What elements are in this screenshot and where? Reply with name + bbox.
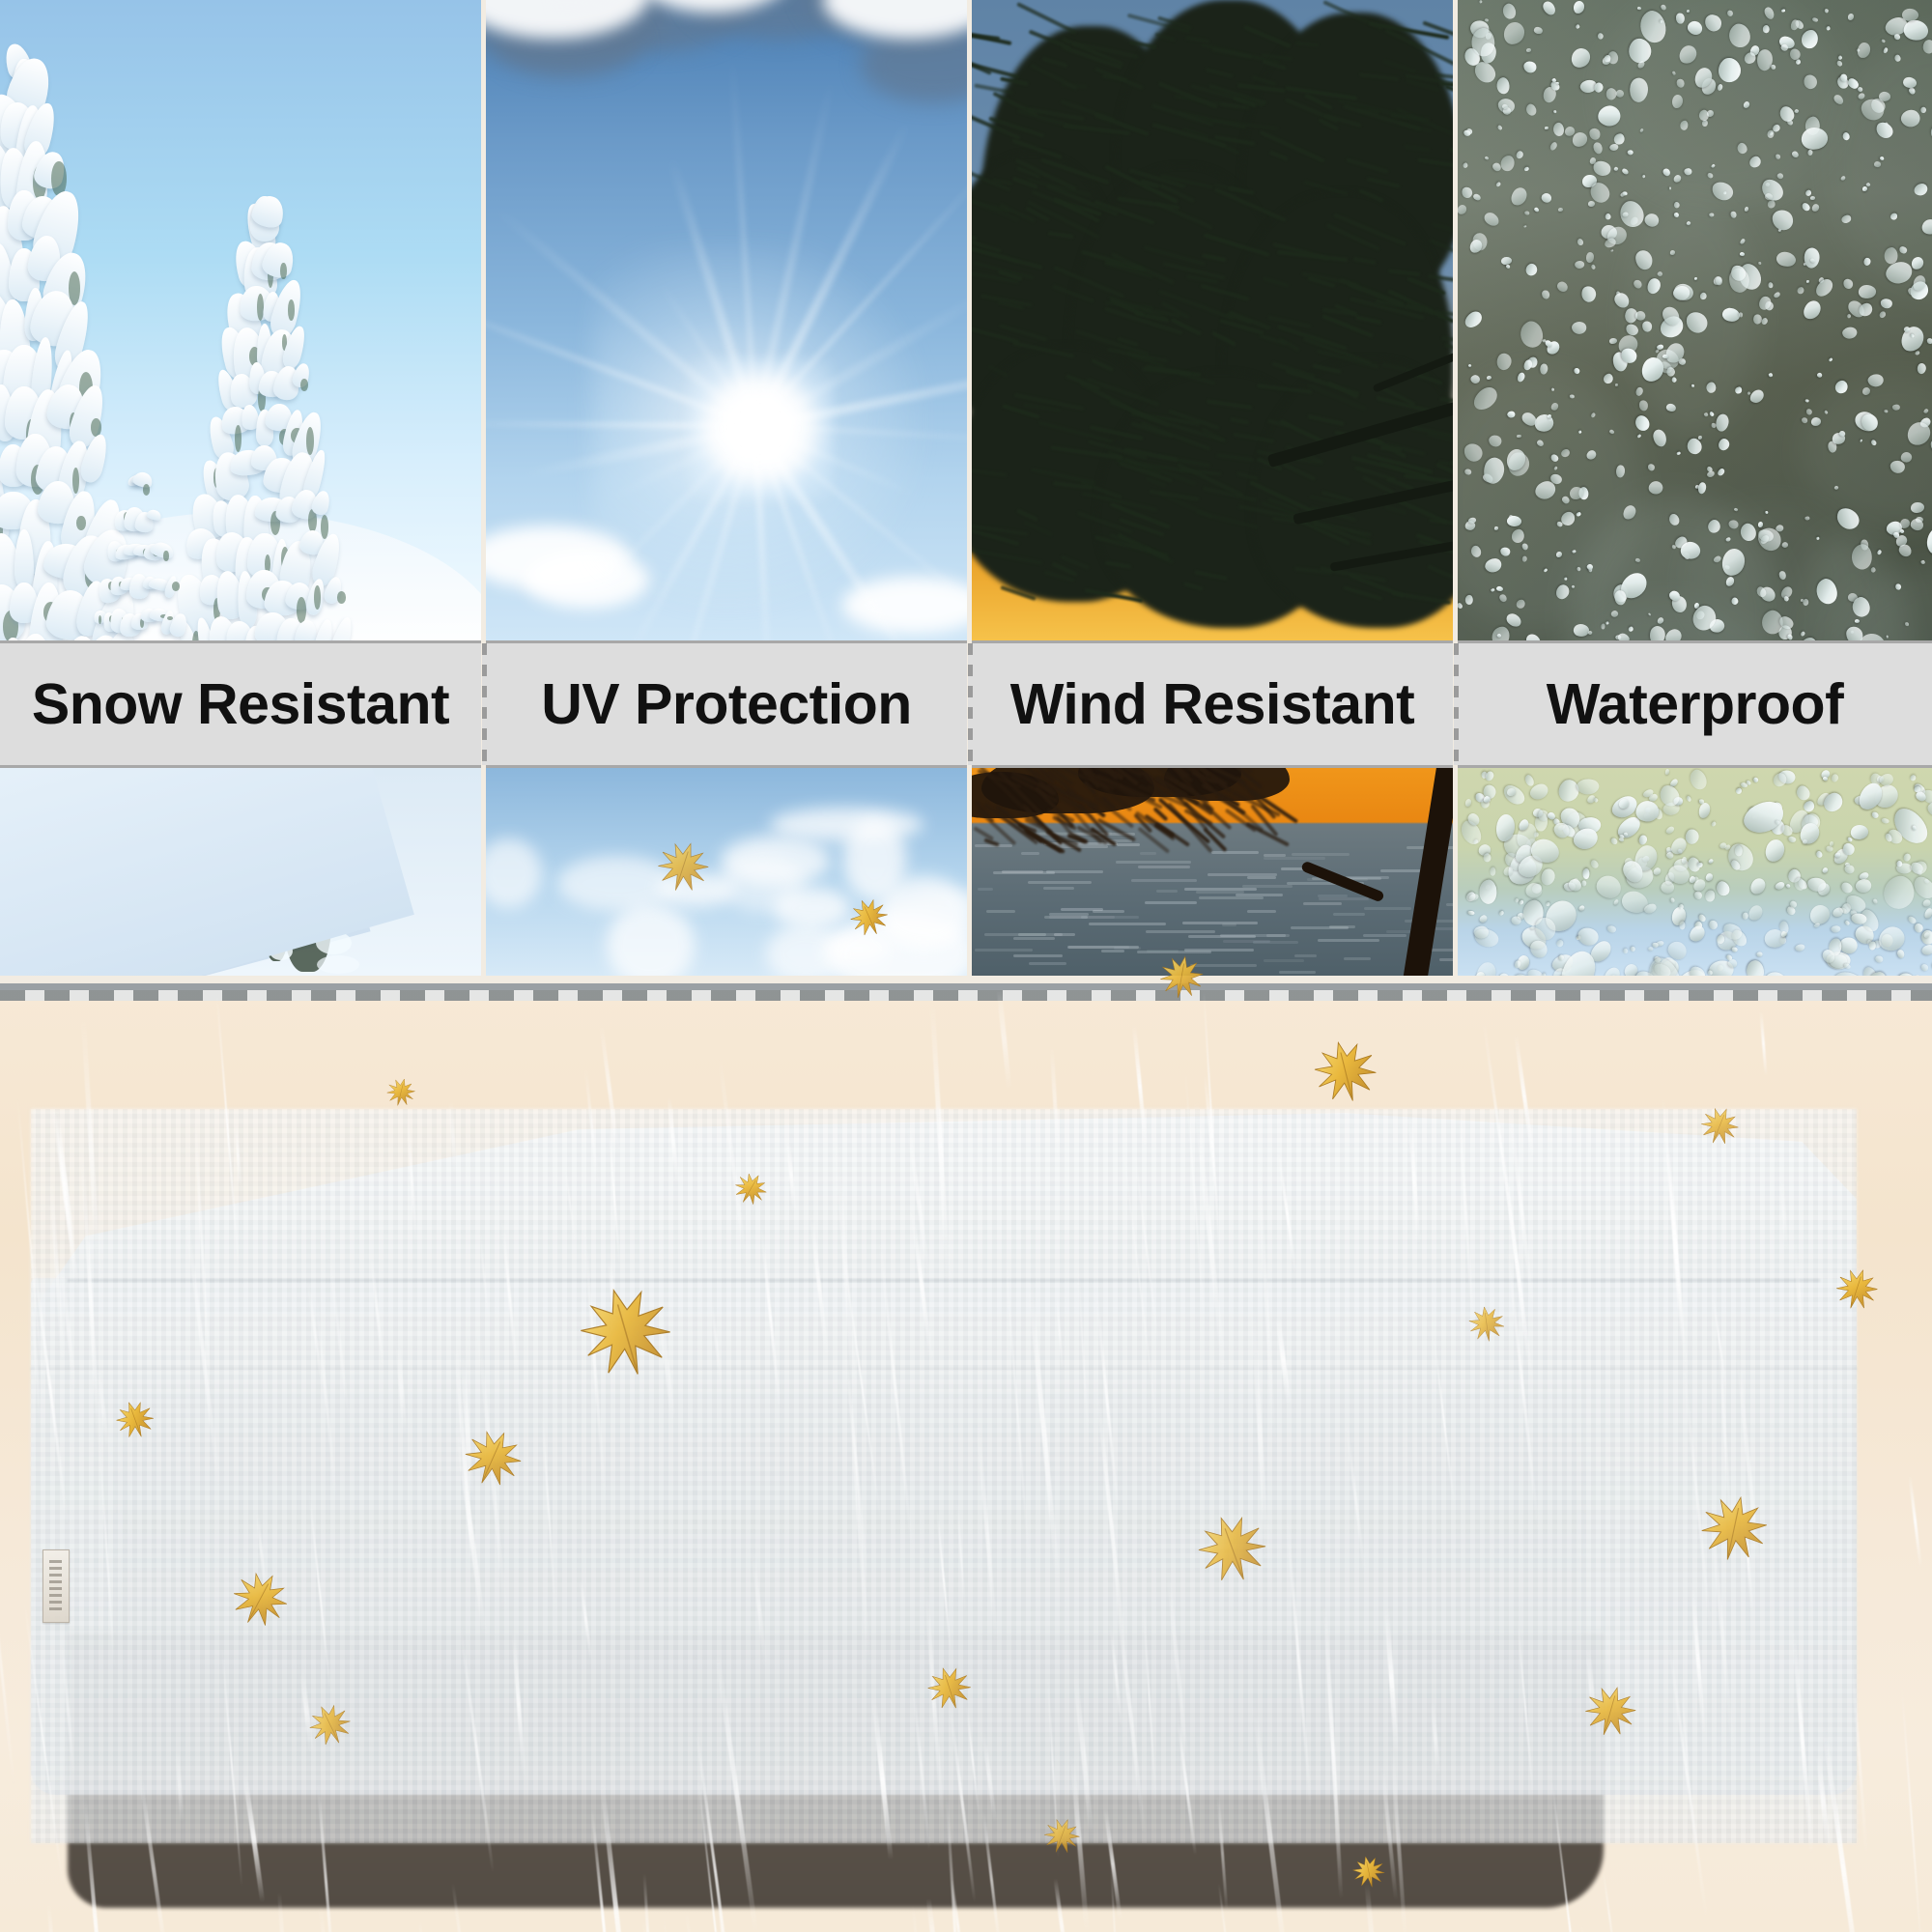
water-droplet: [1492, 627, 1510, 640]
sea-wave: [1184, 949, 1254, 952]
water-droplet: [1500, 547, 1510, 555]
water-droplet: [1464, 469, 1471, 474]
water-droplet: [1807, 878, 1826, 892]
snow-tree-small: [87, 461, 193, 640]
feature-label-uv: UV Protection: [486, 640, 967, 768]
cloud: [773, 888, 850, 928]
sea-wave: [1093, 910, 1124, 913]
sea-wave: [1292, 853, 1349, 856]
sea-wave: [1318, 895, 1347, 897]
sea-wave: [986, 910, 1015, 913]
autumn-leaf: [110, 1395, 159, 1444]
sea-wave: [1333, 913, 1365, 916]
sea-wave: [1319, 897, 1368, 900]
autumn-leaf: [1830, 1263, 1883, 1316]
sea-wave: [1196, 891, 1244, 894]
label-separator: [968, 643, 973, 765]
feature-label-text: Snow Resistant: [32, 671, 449, 737]
sea-wave: [1140, 852, 1156, 855]
sea-wave: [1364, 907, 1411, 910]
water-droplet: [1776, 154, 1780, 159]
wind-tree-image: [972, 0, 1453, 640]
water-droplet: [1642, 321, 1653, 331]
sea-wave: [1190, 964, 1257, 967]
feature-label-text: Waterproof: [1547, 671, 1843, 737]
autumn-leaf: [922, 1661, 978, 1717]
sea-wave: [1294, 954, 1317, 957]
water-droplet: [1542, 291, 1549, 299]
sea-wave: [1291, 926, 1349, 929]
sea-wave: [1264, 959, 1303, 962]
feature-label-snow: Snow Resistant: [0, 640, 481, 768]
autumn-leaf: [454, 1420, 530, 1496]
water-droplet: [1601, 624, 1605, 630]
autumn-leaf: [1188, 1505, 1277, 1594]
autumn-leaf: [1466, 1303, 1508, 1345]
autumn-leaf: [1350, 1853, 1388, 1891]
sea-wave: [1101, 950, 1124, 952]
water-droplet: [1715, 276, 1722, 285]
water-droplet: [1622, 191, 1627, 196]
water-droplet: [1875, 956, 1883, 963]
sea-wave: [1247, 876, 1276, 879]
feature-grid: Snow Resistant UV Protection: [0, 0, 1932, 976]
feature-panel-wind: Wind Resistant: [972, 0, 1453, 976]
water-droplet: [1914, 785, 1921, 791]
sea-wave: [1439, 958, 1453, 961]
sea-wave: [1279, 971, 1316, 974]
sea-wave: [1089, 923, 1166, 925]
autumn-leaf: [1307, 1034, 1384, 1111]
sea-wave: [1253, 941, 1298, 944]
sea-wave: [1013, 937, 1055, 940]
autumn-leaf: [1694, 1101, 1745, 1151]
sea-wave: [1116, 861, 1191, 864]
sun-scene-image: [486, 0, 967, 640]
autumn-leaf: [1038, 1813, 1086, 1861]
water-droplet: [1911, 502, 1924, 513]
water-droplet: [1619, 799, 1629, 809]
water-droplet: [1801, 416, 1807, 423]
cloud: [843, 818, 906, 900]
rain-window-image: [1458, 768, 1932, 976]
water-droplet: [1852, 913, 1867, 923]
sea-wave: [1043, 887, 1075, 890]
sea-wave: [1131, 879, 1197, 882]
snow-tree-mid: [183, 166, 346, 640]
water-droplet: [1767, 130, 1774, 138]
feature-label-text: Wind Resistant: [1010, 671, 1415, 737]
sunset-sea-image: [972, 768, 1453, 976]
sea-wave: [1318, 939, 1379, 942]
snow-slope-image: [0, 768, 481, 976]
water-droplet: [1780, 8, 1785, 12]
feature-label-waterproof: Waterproof: [1458, 640, 1932, 768]
sea-wave: [1266, 934, 1291, 937]
water-droplet: [1927, 338, 1932, 345]
feature-label-text: UV Protection: [541, 671, 912, 737]
sea-wave: [1363, 934, 1406, 937]
sea-wave: [1156, 890, 1178, 893]
water-droplet: [1671, 545, 1675, 549]
label-separator: [1454, 643, 1459, 765]
label-separator: [482, 643, 487, 765]
autumn-leaf: [569, 1276, 684, 1391]
autumn-leaf: [302, 1697, 359, 1754]
water-droplet: [1484, 18, 1489, 22]
autumn-leaf: [222, 1562, 298, 1637]
sea-wave: [978, 888, 993, 891]
autumn-leaf: [1578, 1679, 1643, 1744]
sea-wave: [975, 949, 1033, 952]
water-droplet: [1779, 571, 1786, 580]
water-droplets-image: [1458, 0, 1932, 640]
water-droplet: [1884, 410, 1888, 412]
feature-panel-uv: UV Protection: [486, 0, 967, 976]
sea-wave: [1117, 843, 1139, 846]
sea-wave: [1146, 930, 1216, 933]
water-droplet: [1698, 436, 1702, 440]
sea-wave: [1138, 866, 1190, 868]
water-droplet: [1840, 74, 1847, 82]
cloud: [607, 903, 694, 976]
sea-wave: [1028, 881, 1091, 884]
sea-wave: [1188, 935, 1256, 938]
water-droplet: [1880, 298, 1891, 308]
water-droplet: [1555, 552, 1561, 557]
water-droplet: [1636, 6, 1640, 10]
sea-wave: [1018, 933, 1046, 936]
sea-wave: [1068, 946, 1129, 949]
sea-wave: [1242, 885, 1293, 888]
sea-wave: [1264, 857, 1325, 860]
autumn-leaf: [384, 1075, 418, 1110]
water-droplet: [1523, 61, 1537, 73]
sea-wave: [1222, 923, 1236, 926]
cloud-sky-image: [486, 768, 967, 976]
falling-leaves-overlay: [0, 983, 1932, 1932]
autumn-leaf: [728, 1167, 773, 1211]
sea-wave: [1344, 957, 1371, 960]
snow-scene-image: [0, 0, 481, 640]
water-droplet: [1904, 622, 1908, 626]
water-droplet: [1844, 865, 1854, 873]
sea-wave: [1013, 954, 1063, 957]
water-droplet: [1676, 78, 1685, 87]
water-droplet: [1609, 338, 1617, 344]
sea-wave: [1182, 922, 1258, 924]
sea-wave: [1446, 903, 1453, 906]
sea-wave: [1021, 852, 1039, 855]
sea-wave: [1029, 962, 1065, 965]
sea-wave: [1247, 910, 1276, 913]
sea-wave: [1081, 916, 1138, 919]
sea-wave: [1211, 851, 1258, 854]
sea-wave: [1056, 845, 1108, 848]
sea-wave: [1199, 896, 1264, 899]
sea-wave: [1303, 902, 1342, 905]
feature-panel-snow: Snow Resistant: [0, 0, 481, 976]
feature-panel-waterproof: Waterproof: [1458, 0, 1932, 976]
water-droplet: [1524, 211, 1529, 214]
water-droplet: [1586, 252, 1595, 263]
cloud: [766, 924, 845, 976]
water-droplet: [1463, 130, 1470, 136]
sea-wave: [1145, 901, 1197, 904]
water-droplet: [1757, 522, 1762, 527]
autumn-leaf: [1693, 1490, 1774, 1570]
water-droplet: [1824, 8, 1829, 13]
sea-wave: [1002, 870, 1043, 873]
feature-label-wind: Wind Resistant: [972, 640, 1453, 768]
water-droplet: [1589, 156, 1596, 164]
feature-board: Snow Resistant UV Protection: [0, 0, 1932, 1932]
